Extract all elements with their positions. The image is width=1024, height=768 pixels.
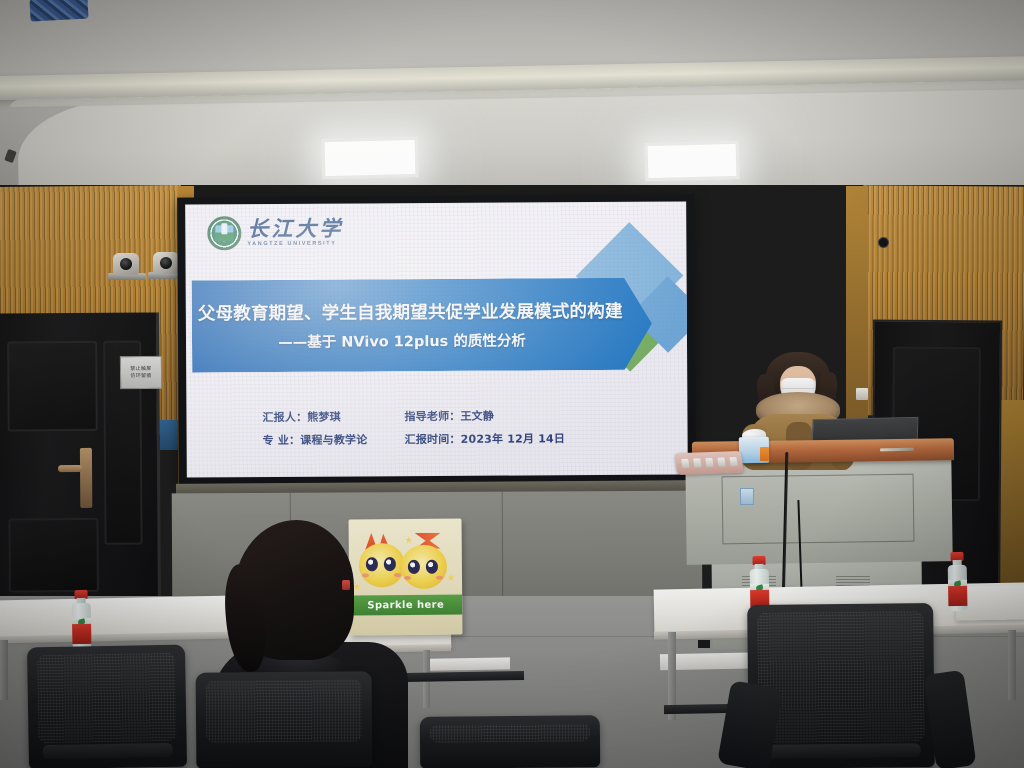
chair-right[interactable] [747,603,935,768]
chair-lumbar-support [43,743,173,759]
folded-cloth-in-bag [29,0,88,22]
bottle-label [948,586,967,606]
power-socket-2[interactable] [693,458,701,467]
slide-presenter-label: 汇报人：熊梦琪 [262,408,404,425]
podium-label-tag [740,488,754,505]
slide-title-banner: 父母教育期望、学生自我期望共促学业发展模式的构建 ——基于 NVivo 12pl… [192,278,653,373]
wall-sensor-icon [878,237,889,248]
mascot-eye [408,560,420,574]
door-warning-sign: 禁止触屏 仿环留痕 [120,356,162,389]
wall-socket[interactable] [856,388,868,400]
slide-subtitle: ——基于 NVivo 12plus 的质性分析 [198,329,652,353]
mascot-eye [426,560,438,574]
bottle-label [72,624,91,644]
water-bottle-right[interactable] [946,552,968,612]
chair-mesh-back [430,723,590,742]
podium-panel-inset [722,474,915,545]
wall-blue-plate [160,420,178,450]
chair-lumbar-support [763,743,921,759]
door-lock-plate[interactable] [80,448,92,508]
ceiling-light-panel-2 [645,141,740,181]
slide-title: 父母教育期望、学生自我期望共促学业发展模式的构建 [198,298,652,326]
tissue-box-accent [760,447,769,461]
university-logo: 长江大学 YANGTZE UNIVERSITY [207,216,343,251]
wall-seam [502,492,504,602]
desk-right-socket[interactable] [698,640,710,648]
chair-mesh-back [206,679,363,742]
power-socket-3[interactable] [705,458,713,467]
power-socket-4[interactable] [717,457,725,466]
presentation-slide: 长江大学 YANGTZE UNIVERSITY 父母教育期望、学生自我期望共促学… [185,201,688,477]
ceiling-light-panel-1 [322,137,419,179]
chair-mesh-back [757,611,924,743]
star-icon: ★ [447,573,455,584]
slide-advisor-label: 指导老师：王文静 [404,408,494,425]
slide-meta-row: 专 业：课程与教学论 汇报时间：2023年 12月 14日 [263,430,566,448]
door-handle[interactable] [58,465,82,472]
slide-date-label: 汇报时间：2023年 12月 14日 [405,430,566,447]
classroom-presentation-photo: 禁止触屏 仿环留痕 长江大学 YANGTZE UNIVERSITY [0,0,1024,768]
university-seal-icon [207,216,241,250]
camera-lens-icon-1 [120,258,132,270]
desk-right-leg-2 [1008,630,1016,700]
chair-middle[interactable] [196,671,373,768]
face-mask-fold [782,388,814,389]
slide-meta-block: 汇报人：熊梦琪 指导老师：王文静 专 业：课程与教学论 汇报时间：2023年 1… [262,407,565,448]
led-screen-bezel: 长江大学 YANGTZE UNIVERSITY 父母教育期望、学生自我期望共促学… [177,194,696,487]
chair-mesh-back [37,653,177,743]
door-sign-line-2: 仿环留痕 [130,372,151,379]
hair-clip [342,580,350,590]
chair-front-left[interactable] [27,645,187,768]
slide-meta-row: 汇报人：熊梦琪 指导老师：王文静 [262,407,565,425]
chair-bottom[interactable] [420,715,600,768]
university-name-chinese: 长江大学 [247,218,343,240]
camera-lens-icon-2 [160,257,172,269]
mascot-blush [436,576,443,580]
desk-left-leg [0,640,8,700]
desk-middle-shelf [430,657,510,670]
power-socket-5[interactable] [729,457,737,466]
water-bottle-left[interactable] [70,590,92,650]
podium-power-strip[interactable] [674,451,743,475]
slide-major-label: 专 业：课程与教学论 [263,431,405,448]
door-panel-bottom [8,518,99,593]
power-socket-1[interactable] [681,459,689,468]
university-name-english: YANGTZE UNIVERSITY [247,242,343,248]
door-panel-top [7,341,98,432]
